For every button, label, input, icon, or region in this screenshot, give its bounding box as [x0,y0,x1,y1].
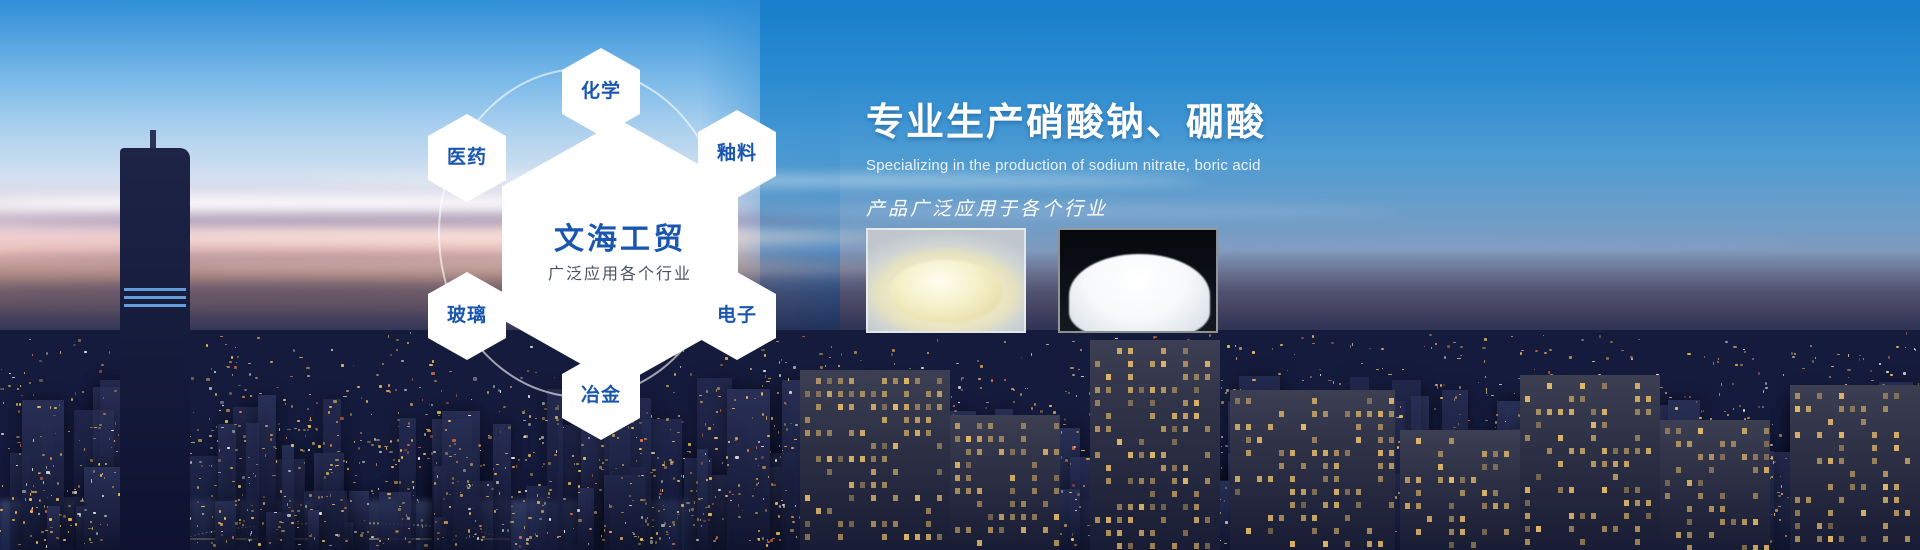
hexagon-label: 医药 [447,148,487,169]
marketing-copy: 专业生产硝酸钠、硼酸 Specializing in the productio… [866,100,1566,221]
foreground-building [1400,430,1520,550]
brand-title: 文海工贸 [554,223,686,256]
product-photo-boric-acid [1058,228,1218,333]
landmark-tower [120,148,190,550]
foreground-building [1520,375,1660,550]
foreground-building [1230,390,1395,550]
foreground-building [1660,420,1770,550]
product-photo-group [866,228,1218,333]
hexagon-label: 电子 [717,306,757,327]
headline: 专业生产硝酸钠、硼酸 [866,100,1566,148]
foreground-building [1790,385,1920,550]
foreground-building [950,415,1060,550]
tagline: 产品广泛应用于各个行业 [866,194,1566,221]
product-photo-sodium-nitrate [866,228,1026,333]
foreground-building [1090,340,1220,550]
brand-subtitle: 广泛应用各个行业 [548,266,692,284]
headline-english: Specializing in the production of sodium… [866,157,1566,174]
hexagon-label: 冶金 [581,386,621,407]
hexagon-label: 玻璃 [447,306,487,327]
industry-hex-diagram: 文海工贸 广泛应用各个行业 化学 釉料 医药 玻璃 电子 冶金 [410,30,830,450]
hexagon-label: 化学 [581,82,621,103]
hexagon-label: 釉料 [717,144,757,165]
promo-banner: 文海工贸 广泛应用各个行业 化学 釉料 医药 玻璃 电子 冶金 专业生产硝酸钠、… [0,0,1920,550]
